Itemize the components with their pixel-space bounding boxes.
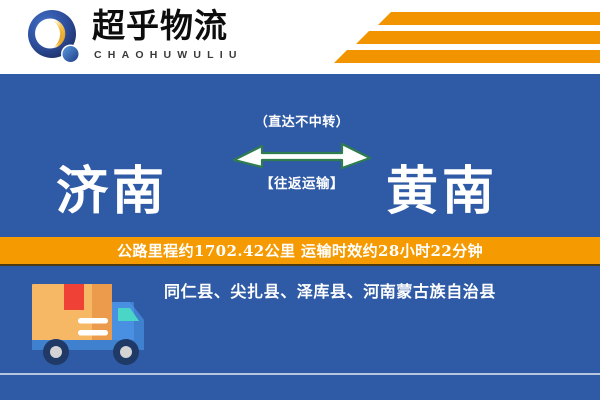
- delivery-truck-icon: [26, 272, 156, 376]
- header-stripe-3: [334, 50, 600, 63]
- coverage-areas-text: 同仁县、尖扎县、泽库县、河南蒙古族自治县: [164, 280, 584, 304]
- header-stripe-1: [378, 12, 600, 25]
- roundtrip-shipping-note: 【往返运输】: [232, 175, 372, 194]
- header-stripe-2: [356, 31, 600, 44]
- ground-line-divider: [0, 373, 600, 375]
- direct-shipping-note: （直达不中转）: [232, 114, 372, 132]
- destination-city: 黄南: [386, 162, 498, 222]
- origin-city: 济南: [56, 162, 168, 222]
- circle-crescent-logo-icon: [26, 9, 84, 67]
- route-panel: 济南 （直达不中转） 【往返运输】 黄南: [0, 74, 600, 237]
- company-name: 超乎物流: [92, 6, 272, 46]
- distance-duration-text: 公路里程约1702.42公里 运输时效约28小时22分钟: [117, 240, 483, 261]
- logistics-route-banner: 超乎物流 CHAOHUWULIU 济南 （直达不中转） 【往返运输】 黄南 公路…: [0, 0, 600, 400]
- route-middle-group: （直达不中转） 【往返运输】: [232, 114, 372, 214]
- logo-wordmark: 超乎物流 CHAOHUWULIU: [92, 6, 272, 70]
- company-pinyin: CHAOHUWULIU: [94, 48, 272, 62]
- coverage-panel: 同仁县、尖扎县、泽库县、河南蒙古族自治县: [0, 266, 600, 400]
- double-headed-arrow-icon: [232, 138, 372, 170]
- banner-header: 超乎物流 CHAOHUWULIU: [0, 0, 600, 74]
- distance-duration-bar: 公路里程约1702.42公里 运输时效约28小时22分钟: [0, 237, 600, 266]
